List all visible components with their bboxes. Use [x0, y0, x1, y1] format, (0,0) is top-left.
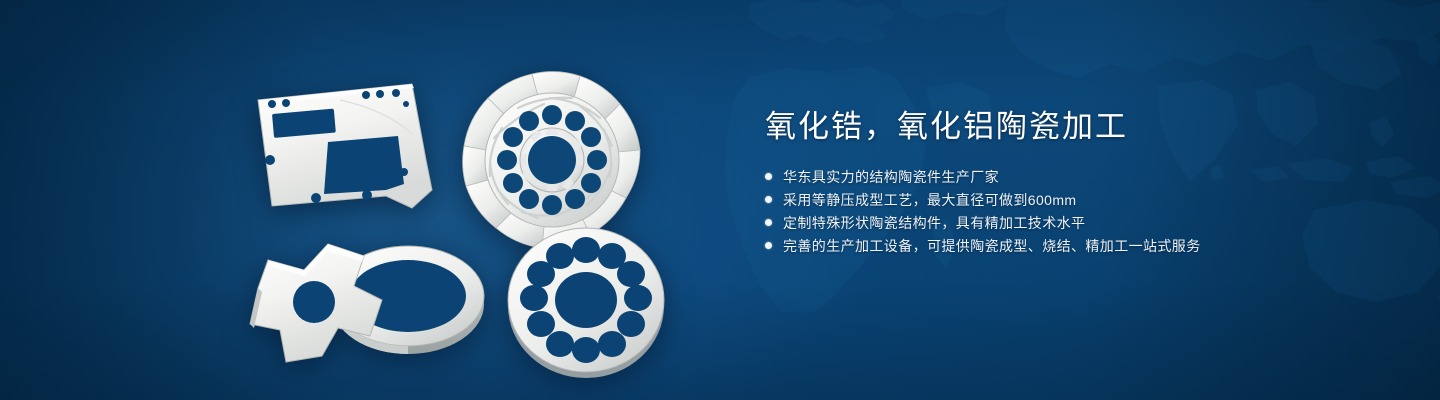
ceramic-plate-shape	[258, 84, 432, 208]
feature-item-1: 华东具实力的结构陶瓷件生产厂家	[765, 169, 1325, 185]
feature-text: 定制特殊形状陶瓷结构件，具有精加工技术水平	[783, 215, 1085, 231]
banner-copy: 氧化锆，氧化铝陶瓷加工 华东具实力的结构陶瓷件生产厂家 采用等静压成型工艺，最大…	[765, 108, 1325, 261]
feature-item-3: 定制特殊形状陶瓷结构件，具有精加工技术水平	[765, 215, 1325, 231]
feature-text: 完善的生产加工设备，可提供陶瓷成型、烧结、精加工一站式服务	[783, 238, 1201, 254]
bullet-dot-icon	[765, 242, 772, 249]
bullet-dot-icon	[765, 219, 772, 226]
feature-list: 华东具实力的结构陶瓷件生产厂家 采用等静压成型工艺，最大直径可做到600mm 定…	[765, 169, 1325, 254]
ceramic-cross-plate-shape	[250, 244, 382, 362]
feature-item-2: 采用等静压成型工艺，最大直径可做到600mm	[765, 192, 1325, 208]
ceramic-impeller-shape	[463, 72, 640, 248]
feature-text: 采用等静压成型工艺，最大直径可做到600mm	[783, 192, 1076, 208]
feature-item-4: 完善的生产加工设备，可提供陶瓷成型、烧结、精加工一站式服务	[765, 238, 1325, 254]
banner-headline: 氧化锆，氧化铝陶瓷加工	[765, 108, 1325, 147]
bullet-dot-icon	[765, 196, 772, 203]
hero-banner: 氧化锆，氧化铝陶瓷加工 华东具实力的结构陶瓷件生产厂家 采用等静压成型工艺，最大…	[0, 0, 1440, 400]
ceramic-perforated-disc-shape	[508, 228, 664, 378]
product-photo-group	[236, 38, 716, 378]
feature-text: 华东具实力的结构陶瓷件生产厂家	[783, 169, 999, 185]
bullet-dot-icon	[765, 173, 772, 180]
